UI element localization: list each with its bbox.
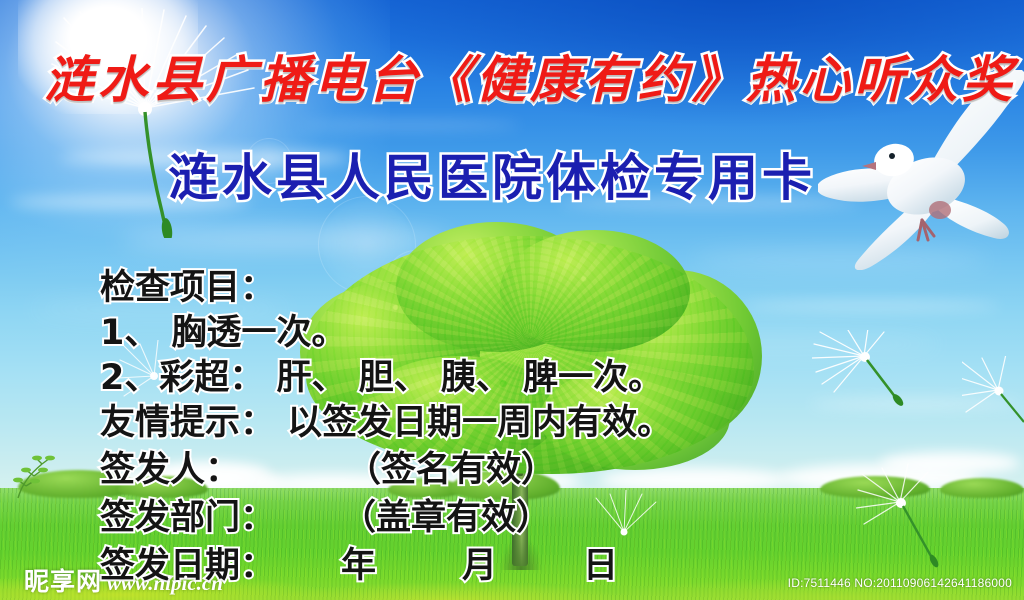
- field-label-issuer: 签发人：: [100, 446, 240, 494]
- field-note-department: （盖章有效）: [341, 494, 551, 542]
- body-line-notice: 友情提示： 以签发日期一周内有效。: [100, 401, 1000, 446]
- watermark-site-url: www.nipic.cn: [107, 571, 223, 596]
- date-unit-day: 日: [583, 542, 618, 590]
- body-line-item-2: 2、彩超： 肝、 胆、 胰、 脾一次。: [100, 356, 1000, 401]
- health-exam-card: 涟水县广播电台《健康有约》热心听众奖 涟水县人民医院体检专用卡 检查项目： 1、…: [0, 0, 1024, 600]
- body-line-item-1: 1、 胸透一次。: [100, 311, 1000, 356]
- page-title: 涟水县广播电台《健康有约》热心听众奖: [44, 52, 984, 108]
- card-body: 检查项目： 1、 胸透一次。 2、彩超： 肝、 胆、 胰、 脾一次。 友情提示：…: [100, 266, 1000, 590]
- body-line-exam-items: 检查项目：: [100, 266, 1000, 311]
- date-unit-year: 年: [341, 542, 376, 590]
- field-row-issuer: 签发人：（签名有效）: [100, 446, 1000, 494]
- image-id-label: ID:7511446 NO:20110906142641186000: [788, 576, 1012, 590]
- field-label-department: 签发部门：: [100, 494, 275, 542]
- watermark: 昵享网 www.nipic.cn: [24, 562, 223, 598]
- field-note-issuer: （签名有效）: [346, 446, 556, 494]
- page-subtitle: 涟水县人民医院体检专用卡: [168, 150, 1024, 206]
- left-shrub-icon: [8, 448, 88, 500]
- field-row-department: 签发部门：（盖章有效）: [100, 494, 1000, 542]
- date-unit-month: 月: [462, 542, 497, 590]
- watermark-site-name: 昵享网: [24, 562, 102, 598]
